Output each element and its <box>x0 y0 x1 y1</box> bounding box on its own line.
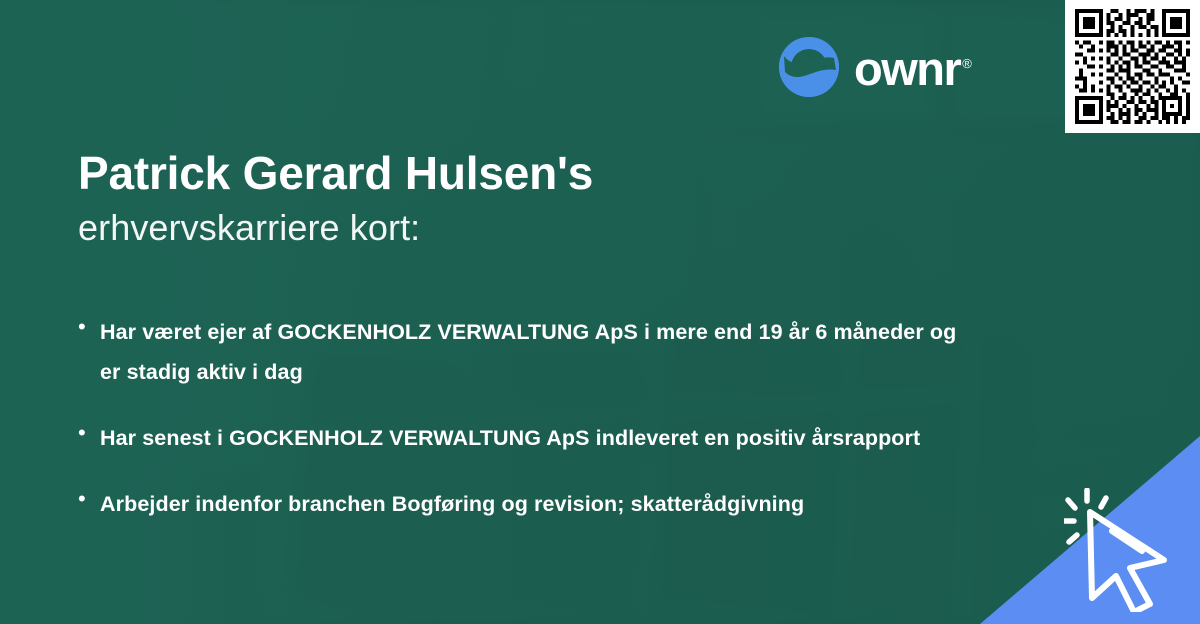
list-item-text: Arbejder indenfor branchen Bogføring og … <box>100 484 804 524</box>
list-item-text: Har været ejer af GOCKENHOLZ VERWALTUNG … <box>100 312 978 392</box>
ownr-wordmark: ownr® <box>854 45 972 92</box>
bullet-marker-icon: • <box>78 312 100 342</box>
list-item: • Har været ejer af GOCKENHOLZ VERWALTUN… <box>78 312 978 392</box>
page-title: Patrick Gerard Hulsen's erhvervskarriere… <box>78 148 938 249</box>
bullet-marker-icon: • <box>78 484 100 514</box>
list-item-text: Har senest i GOCKENHOLZ VERWALTUNG ApS i… <box>100 418 920 458</box>
qr-code[interactable] <box>1065 0 1200 133</box>
list-item: • Arbejder indenfor branchen Bogføring o… <box>78 484 978 524</box>
list-item: • Har senest i GOCKENHOLZ VERWALTUNG ApS… <box>78 418 978 458</box>
career-facts-list: • Har været ejer af GOCKENHOLZ VERWALTUN… <box>78 312 978 550</box>
title-line-2: erhvervskarriere kort: <box>78 206 938 249</box>
brand-name: ownr <box>854 42 960 95</box>
registered-trademark-symbol: ® <box>962 56 972 71</box>
title-line-1: Patrick Gerard Hulsen's <box>78 148 938 200</box>
ownr-logo[interactable]: ownr® <box>778 36 972 98</box>
ownr-swirl-circle-icon <box>778 36 840 98</box>
bullet-marker-icon: • <box>78 418 100 448</box>
click-cursor-icon <box>1064 488 1176 612</box>
business-career-card: ownr® <box>0 0 1200 624</box>
corner-accent <box>980 436 1200 624</box>
